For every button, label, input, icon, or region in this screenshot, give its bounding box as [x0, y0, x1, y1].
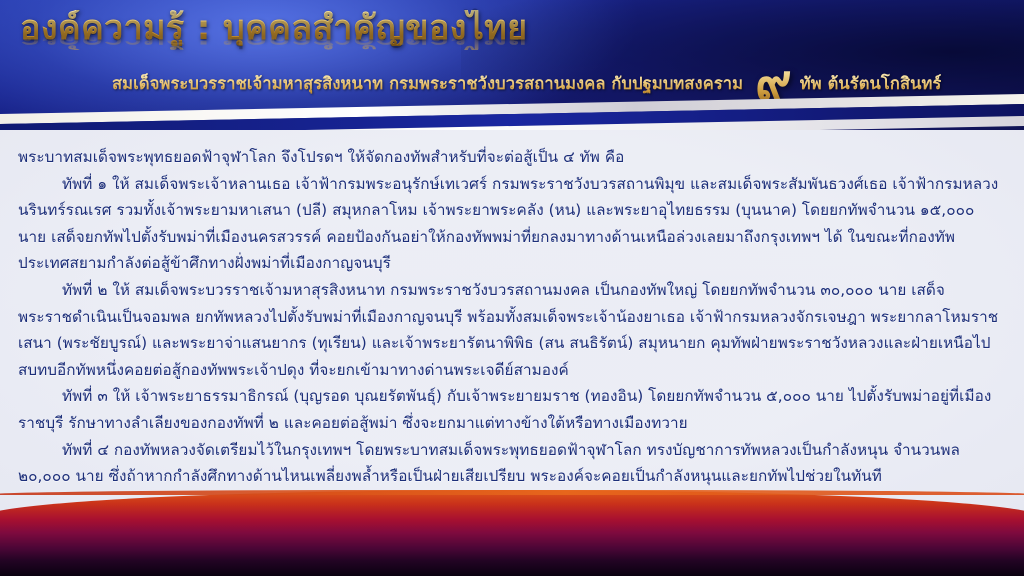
header-banner: องค์ความรู้ : บุคคลสำคัญของไทย องค์ความร… — [0, 0, 1024, 130]
paragraph-0: พระบาทสมเด็จพระพุทธยอดฟ้าจุฬาโลก จึงโปรด… — [18, 144, 1006, 171]
article-body: พระบาทสมเด็จพระพุทธยอดฟ้าจุฬาโลก จึงโปรด… — [0, 130, 1024, 490]
paragraph-3: ทัพที่ ๓ ให้ เจ้าพระยาธรรมาธิกรณ์ (บุญรอ… — [18, 383, 1006, 436]
footer-banner — [0, 490, 1024, 576]
paragraph-1: ทัพที่ ๑ ให้ สมเด็จพระเจ้าหลานเธอ เจ้าฟ้… — [18, 171, 1006, 277]
thai-numeral-nine: ๙ — [755, 57, 792, 107]
title-block: องค์ความรู้ : บุคคลสำคัญของไทย องค์ความร… — [20, 10, 780, 46]
footer-gradient-swoosh — [0, 490, 1024, 576]
subtitle-right-text: ทัพ ต้นรัตนโกสินทร์ — [800, 71, 942, 97]
page-title: องค์ความรู้ : บุคคลสำคัญของไทย — [20, 10, 780, 46]
paragraph-2: ทัพที่ ๒ ให้ สมเด็จพระบวรราชเจ้ามหาสุรสิ… — [18, 277, 1006, 383]
subtitle-left-text: สมเด็จพระบวรราชเจ้ามหาสุรสิงหนาท กรมพระร… — [112, 71, 743, 97]
subtitle-block: สมเด็จพระบวรราชเจ้ามหาสุรสิงหนาท กรมพระร… — [112, 62, 1012, 106]
footer-top-highlight — [0, 490, 1024, 495]
paragraph-4: ทัพที่ ๔ กองทัพหลวงจัดเตรียมไว้ในกรุงเทพ… — [18, 437, 1006, 490]
content-panel: พระบาทสมเด็จพระพุทธยอดฟ้าจุฬาโลก จึงโปรด… — [0, 130, 1024, 522]
slide-root: องค์ความรู้ : บุคคลสำคัญของไทย องค์ความร… — [0, 0, 1024, 576]
